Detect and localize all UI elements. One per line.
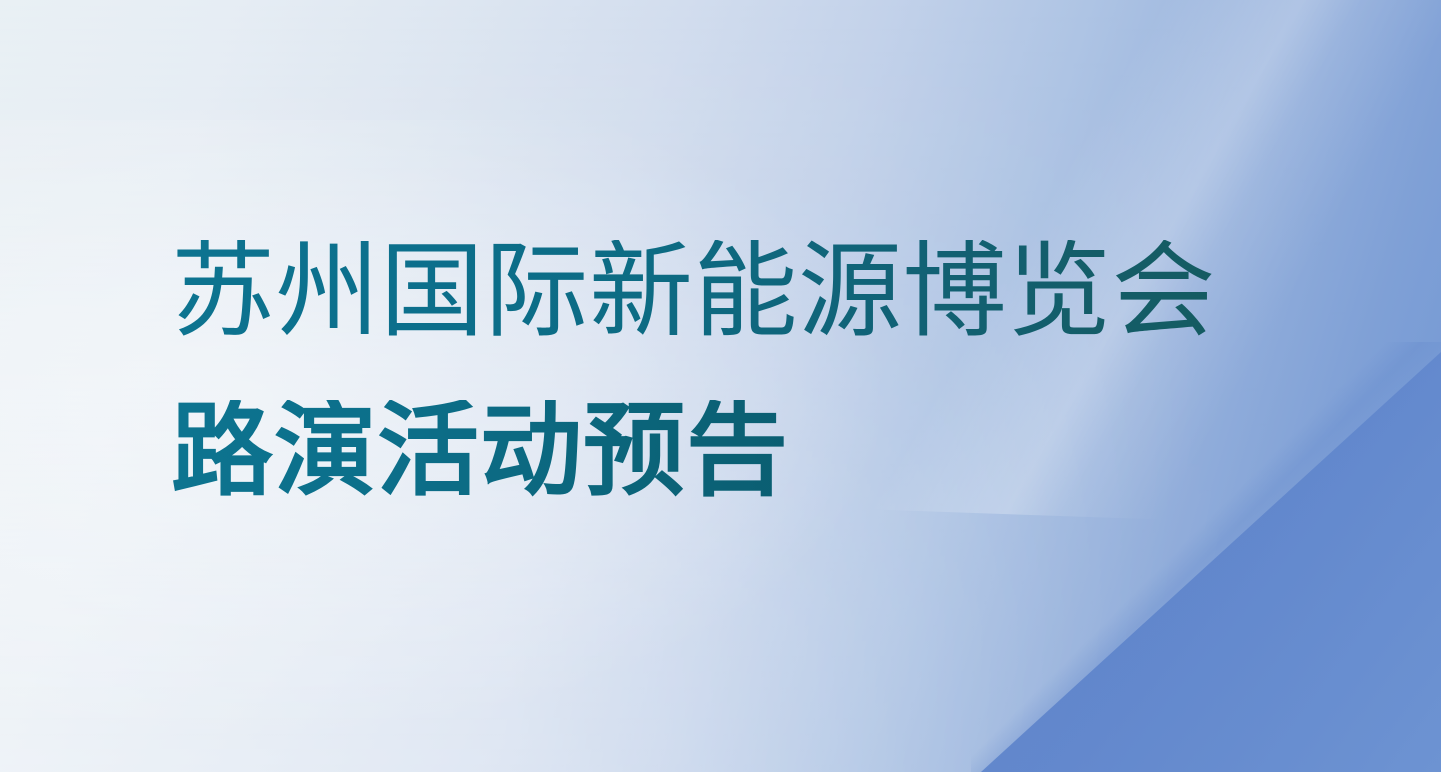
headline-block: 苏州国际新能源博览会 路演活动预告 [171, 240, 1271, 502]
event-subtitle: 路演活动预告 [171, 400, 1271, 502]
poster-canvas: 苏州国际新能源博览会 路演活动预告 [0, 0, 1441, 772]
event-title: 苏州国际新能源博览会 [171, 240, 1271, 344]
